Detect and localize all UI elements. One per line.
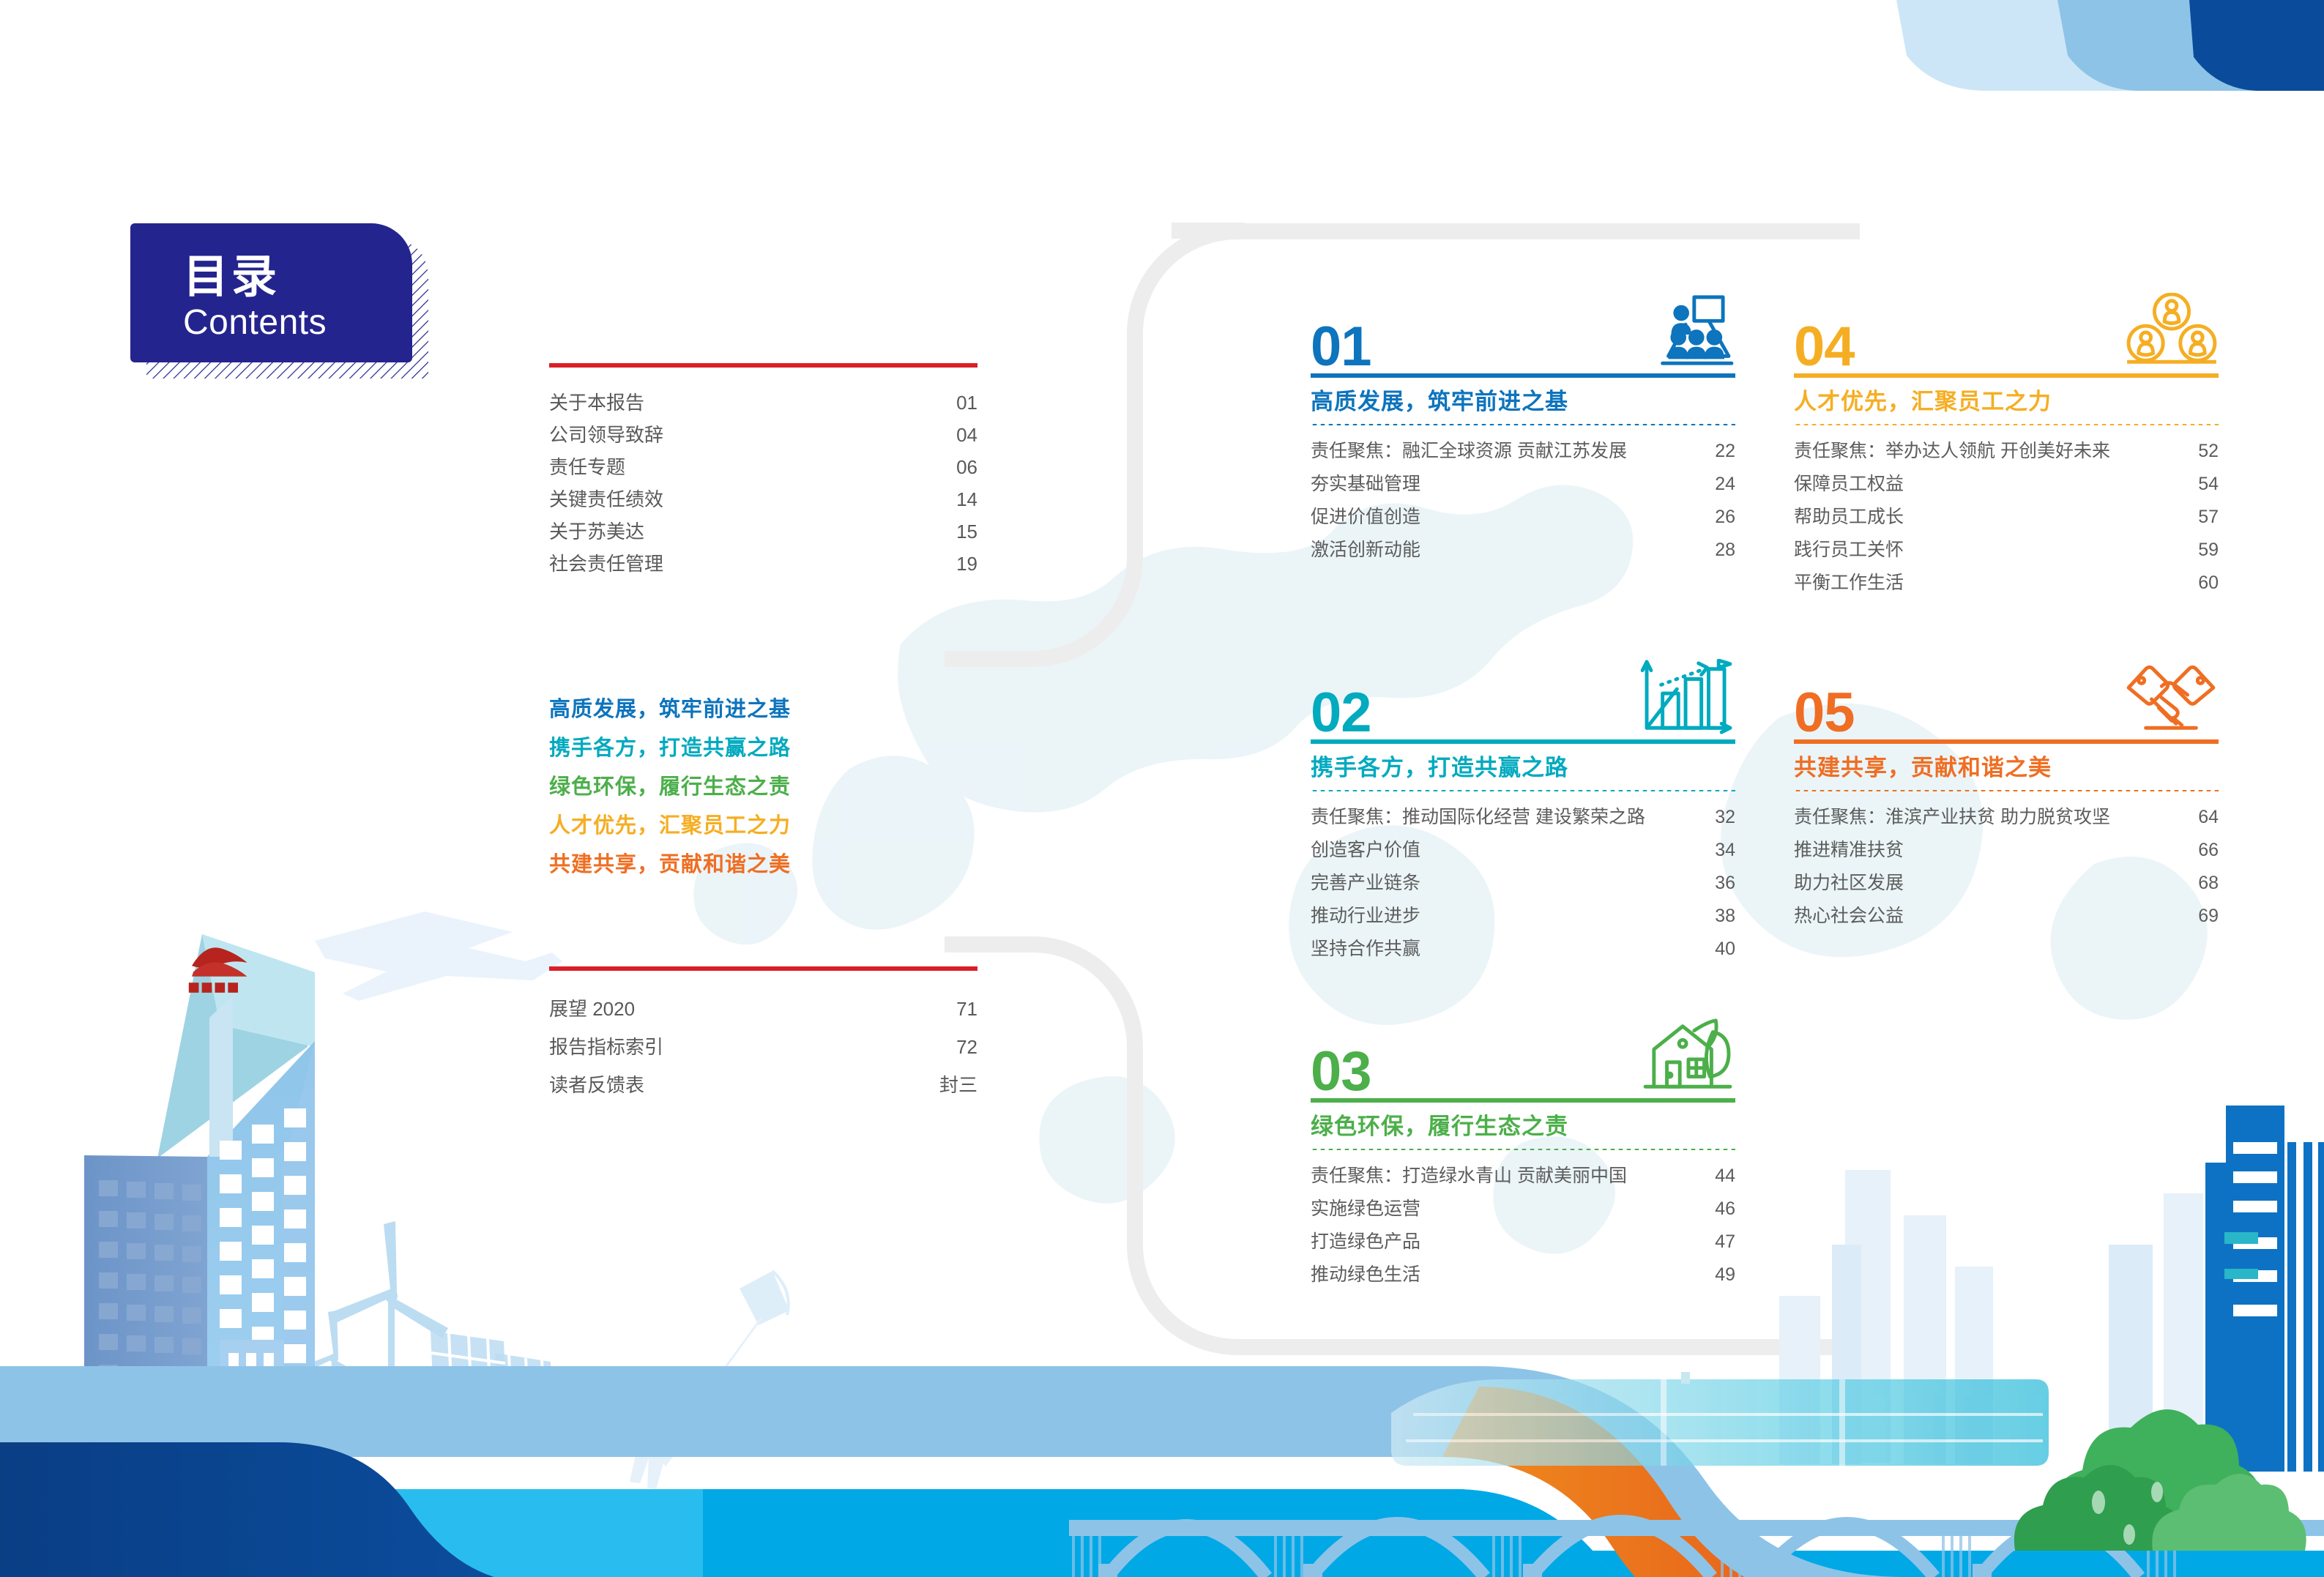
chapter-dotted-divider <box>1794 423 2219 426</box>
toc-row[interactable]: 公司领导致辞04 <box>549 419 977 451</box>
chapter-item-row[interactable]: 保障员工权益54 <box>1794 468 2219 501</box>
chapter-item-page: 40 <box>1715 940 1735 958</box>
chapter-item-label: 夯实基础管理 <box>1311 475 1420 493</box>
chapter-item-label: 帮助员工成长 <box>1794 508 1904 526</box>
headquarters-tower <box>84 934 315 1435</box>
chapter-header: 02 <box>1311 659 1735 739</box>
chapter-item-row[interactable]: 推动绿色生活49 <box>1311 1259 1735 1291</box>
chapter-item-label: 推动绿色生活 <box>1311 1266 1420 1284</box>
chapter-dotted-divider <box>1794 789 2219 792</box>
chapter-item-label: 坚持合作共赢 <box>1311 940 1420 958</box>
chapter-rule <box>1794 373 2219 378</box>
chapter-item-list: 责任聚焦：打造绿水青山 贡献美丽中国44实施绿色运营46打造绿色产品47推动绿色… <box>1311 1160 1735 1291</box>
chapter-link-4[interactable]: 人才优先，汇聚员工之力 <box>549 807 1003 846</box>
top-right-swoosh <box>1896 0 2324 91</box>
chapter-item-page: 54 <box>2198 475 2219 493</box>
toc-row-page: 01 <box>956 393 977 412</box>
toc-row[interactable]: 读者反馈表封三 <box>549 1066 977 1104</box>
chapter-card-03: 03 绿色环保，履行生态之责责任聚焦：打造绿水青山 贡献美丽中国44实施绿色运营… <box>1311 1018 1735 1291</box>
three-people-icon <box>2123 293 2219 372</box>
chapter-item-list: 责任聚焦：推动国际化经营 建设繁荣之路32创造客户价值34完善产业链条36推动行… <box>1311 801 1735 966</box>
chapter-item-label: 推进精准扶贫 <box>1794 841 1904 860</box>
toc-row-page: 06 <box>956 458 977 477</box>
toc-row[interactable]: 展望 202071 <box>549 990 977 1028</box>
kite-and-child <box>624 1271 789 1489</box>
chapter-rule <box>1311 739 1735 744</box>
toc-row-label: 关于本报告 <box>549 393 644 412</box>
contents-badge: 目录 Contents <box>130 223 412 362</box>
chapter-item-page: 47 <box>1715 1233 1735 1251</box>
chapter-item-label: 保障员工权益 <box>1794 475 1904 493</box>
chapter-header: 01 <box>1311 293 1735 373</box>
growth-chart-flag-icon <box>1640 659 1735 738</box>
toc-row[interactable]: 关键责任绩效14 <box>549 483 977 515</box>
chapter-number: 05 <box>1794 687 1855 739</box>
chapter-item-row[interactable]: 推动行业进步38 <box>1311 900 1735 933</box>
chapter-item-page: 60 <box>2198 574 2219 592</box>
chapter-item-page: 36 <box>1715 874 1735 892</box>
chapter-item-row[interactable]: 平衡工作生活60 <box>1794 567 2219 600</box>
wind-turbines <box>294 1221 448 1439</box>
chapter-title: 人才优先，汇聚员工之力 <box>1794 390 2219 413</box>
chapter-item-row[interactable]: 完善产业链条36 <box>1311 867 1735 900</box>
chapter-dotted-divider <box>1311 1148 1735 1151</box>
chapter-item-page: 57 <box>2198 508 2219 526</box>
chapter-item-label: 激活创新动能 <box>1311 541 1420 559</box>
chapter-item-label: 责任聚焦：淮滨产业扶贫 助力脱贫攻坚 <box>1794 808 2110 827</box>
toc-list-primary: 关于本报告01公司领导致辞04责任专题06关键责任绩效14关于苏美达15社会责任… <box>549 363 977 580</box>
chapter-card-02: 02 携手各方，打造共赢之路责任聚焦：推动国际化经营 建设繁荣之路32创造客户价… <box>1311 659 1735 966</box>
chapter-item-label: 责任聚焦：推动国际化经营 建设繁荣之路 <box>1311 808 1645 827</box>
chapter-item-page: 22 <box>1715 442 1735 461</box>
chapter-card-01: 01 高质发展，筑牢前进之基责任聚焦：融汇全球资源 贡献江苏发展22夯实基础管理… <box>1311 293 1735 567</box>
chapter-item-page: 32 <box>1715 808 1735 827</box>
chapter-item-row[interactable]: 热心社会公益69 <box>1794 900 2219 933</box>
chapter-item-page: 34 <box>1715 841 1735 860</box>
chapter-number: 02 <box>1311 687 1371 739</box>
chapter-item-label: 责任聚焦：举办达人领航 开创美好未来 <box>1794 442 2110 461</box>
chapter-item-page: 49 <box>1715 1266 1735 1284</box>
bridge <box>1069 1514 2324 1577</box>
chapter-title: 高质发展，筑牢前进之基 <box>1311 390 1735 413</box>
chapter-item-page: 46 <box>1715 1200 1735 1218</box>
chapter-item-list: 责任聚焦：举办达人领航 开创美好未来52保障员工权益54帮助员工成长57践行员工… <box>1794 435 2219 600</box>
secondary-tower <box>220 1340 284 1435</box>
chapter-title: 绿色环保，履行生态之责 <box>1311 1115 1735 1138</box>
chapter-item-page: 68 <box>2198 874 2219 892</box>
chapter-item-label: 实施绿色运营 <box>1311 1200 1420 1218</box>
chapter-item-page: 52 <box>2198 442 2219 461</box>
toc-row-label: 报告指标索引 <box>549 1037 663 1056</box>
chapter-link-5[interactable]: 共建共享，贡献和谐之美 <box>549 846 1003 884</box>
toc-row-page: 72 <box>956 1037 977 1056</box>
toc-row-label: 公司领导致辞 <box>549 425 663 444</box>
chapter-item-row[interactable]: 打造绿色产品47 <box>1311 1226 1735 1259</box>
chapter-rule <box>1311 1098 1735 1103</box>
chapter-item-label: 热心社会公益 <box>1794 907 1904 925</box>
toc-row[interactable]: 关于苏美达15 <box>549 515 977 548</box>
contents-page: 目录 Contents 关于本报告01公司领导致辞04责任专题06关键责任绩效1… <box>0 0 2324 1577</box>
chapter-item-row[interactable]: 创造客户价值34 <box>1311 834 1735 867</box>
handshake-icon <box>2123 659 2219 738</box>
chapter-header: 03 <box>1311 1018 1735 1098</box>
chapter-link-2[interactable]: 携手各方，打造共赢之路 <box>549 729 1003 768</box>
chapter-link-1[interactable]: 高质发展，筑牢前进之基 <box>549 690 1003 729</box>
chapter-item-page: 38 <box>1715 907 1735 925</box>
chapter-item-row[interactable]: 践行员工关怀59 <box>1794 534 2219 567</box>
chapter-item-page: 66 <box>2198 841 2219 860</box>
toc-row-label: 展望 2020 <box>549 999 635 1018</box>
chapter-card-05: 05 共建共享，贡献和谐之美责任聚焦：淮滨产业扶贫 助力脱贫攻坚64推进精准扶贫… <box>1794 659 2219 933</box>
chapter-rule <box>1794 739 2219 744</box>
toc-row-label: 责任专题 <box>549 458 625 477</box>
chapter-item-label: 创造客户价值 <box>1311 841 1420 860</box>
green-house-leaf-icon <box>1640 1018 1735 1097</box>
toc-row-label: 关于苏美达 <box>549 522 644 541</box>
chapter-dotted-divider <box>1311 423 1735 426</box>
chapter-item-label: 平衡工作生活 <box>1794 574 1904 592</box>
toc-row[interactable]: 关于本报告01 <box>549 387 977 419</box>
chapter-item-page: 59 <box>2198 541 2219 559</box>
toc-row[interactable]: 责任专题06 <box>549 451 977 483</box>
toc-row-label: 社会责任管理 <box>549 554 663 573</box>
chapter-item-label: 完善产业链条 <box>1311 874 1420 892</box>
contents-title-en: Contents <box>183 303 412 343</box>
chapter-item-row[interactable]: 夯实基础管理24 <box>1311 468 1735 501</box>
chapter-item-row[interactable]: 促进价值创造26 <box>1311 501 1735 534</box>
chapter-item-page: 28 <box>1715 541 1735 559</box>
chapter-item-label: 责任聚焦：打造绿水青山 贡献美丽中国 <box>1311 1167 1627 1185</box>
chapter-item-row[interactable]: 责任聚焦：打造绿水青山 贡献美丽中国44 <box>1311 1160 1735 1193</box>
chapter-item-page: 24 <box>1715 475 1735 493</box>
chapter-dotted-divider <box>1311 789 1735 792</box>
chapter-item-label: 推动行业进步 <box>1311 907 1420 925</box>
divider-red-bottom <box>549 966 977 971</box>
airplane-silhouette <box>315 911 562 1001</box>
company-logo <box>189 947 247 993</box>
toc-list-appendix: 展望 202071报告指标索引72读者反馈表封三 <box>549 966 977 1104</box>
trees <box>2014 1409 2306 1551</box>
chapter-item-page: 44 <box>1715 1167 1735 1185</box>
people-podium-icon <box>1640 293 1735 372</box>
chapter-rule <box>1311 373 1735 378</box>
toc-row[interactable]: 报告指标索引72 <box>549 1028 977 1066</box>
chapter-item-label: 助力社区发展 <box>1794 874 1904 892</box>
high-speed-train <box>1391 1372 2049 1466</box>
chapter-number: 01 <box>1311 321 1371 373</box>
chapter-item-page: 26 <box>1715 508 1735 526</box>
bottom-decorative-band <box>0 1366 2324 1577</box>
chapter-item-row[interactable]: 责任聚焦：淮滨产业扶贫 助力脱贫攻坚64 <box>1794 801 2219 834</box>
chapter-header: 04 <box>1794 293 2219 373</box>
chapter-item-row[interactable]: 激活创新动能28 <box>1311 534 1735 567</box>
toc-row-page: 04 <box>956 425 977 444</box>
chapter-item-row[interactable]: 责任聚焦：推动国际化经营 建设繁荣之路32 <box>1311 801 1735 834</box>
chapter-item-row[interactable]: 助力社区发展68 <box>1794 867 2219 900</box>
chapter-item-label: 打造绿色产品 <box>1311 1233 1420 1251</box>
toc-row-page: 14 <box>956 490 977 509</box>
chapter-item-page: 64 <box>2198 808 2219 827</box>
toc-row[interactable]: 社会责任管理19 <box>549 548 977 580</box>
chapter-item-label: 责任聚焦：融汇全球资源 贡献江苏发展 <box>1311 442 1627 461</box>
chapter-item-row[interactable]: 责任聚焦：融汇全球资源 贡献江苏发展22 <box>1311 435 1735 468</box>
chapter-item-row[interactable]: 坚持合作共赢40 <box>1311 933 1735 966</box>
chapter-item-list: 责任聚焦：淮滨产业扶贫 助力脱贫攻坚64推进精准扶贫66助力社区发展68热心社会… <box>1794 801 2219 933</box>
chapter-number: 04 <box>1794 321 1855 373</box>
solar-panels <box>431 1331 554 1441</box>
chapter-item-label: 践行员工关怀 <box>1794 541 1904 559</box>
chapter-title: 携手各方，打造共赢之路 <box>1311 756 1735 779</box>
chapter-card-04: 04 人才优先，汇聚员工之力责任聚焦：举办达人领航 开创美好未来52保障员工权益… <box>1794 293 2219 600</box>
toc-row-page: 15 <box>956 522 977 541</box>
chapter-item-list: 责任聚焦：融汇全球资源 贡献江苏发展22夯实基础管理24促进价值创造26激活创新… <box>1311 435 1735 567</box>
contents-title-cn: 目录 <box>183 254 412 300</box>
chapter-item-page: 69 <box>2198 907 2219 925</box>
toc-row-label: 关键责任绩效 <box>549 490 663 509</box>
chapter-item-row[interactable]: 推进精准扶贫66 <box>1794 834 2219 867</box>
chapter-title: 共建共享，贡献和谐之美 <box>1794 756 2219 779</box>
chapter-item-row[interactable]: 实施绿色运营46 <box>1311 1193 1735 1226</box>
divider-red-top <box>549 363 977 368</box>
chapter-item-label: 促进价值创造 <box>1311 508 1420 526</box>
right-skyline <box>1779 1106 2324 1548</box>
chapter-link-3[interactable]: 绿色环保，履行生态之责 <box>549 768 1003 807</box>
toc-row-label: 读者反馈表 <box>549 1075 644 1095</box>
toc-row-page: 71 <box>956 999 977 1018</box>
chapter-header: 05 <box>1794 659 2219 739</box>
chapter-link-list: 高质发展，筑牢前进之基携手各方，打造共赢之路绿色环保，履行生态之责人才优先，汇聚… <box>549 690 1003 884</box>
chapter-item-row[interactable]: 帮助员工成长57 <box>1794 501 2219 534</box>
chapter-item-row[interactable]: 责任聚焦：举办达人领航 开创美好未来52 <box>1794 435 2219 468</box>
chapter-number: 03 <box>1311 1045 1371 1098</box>
toc-row-page: 19 <box>956 554 977 573</box>
toc-row-page: 封三 <box>939 1075 977 1095</box>
